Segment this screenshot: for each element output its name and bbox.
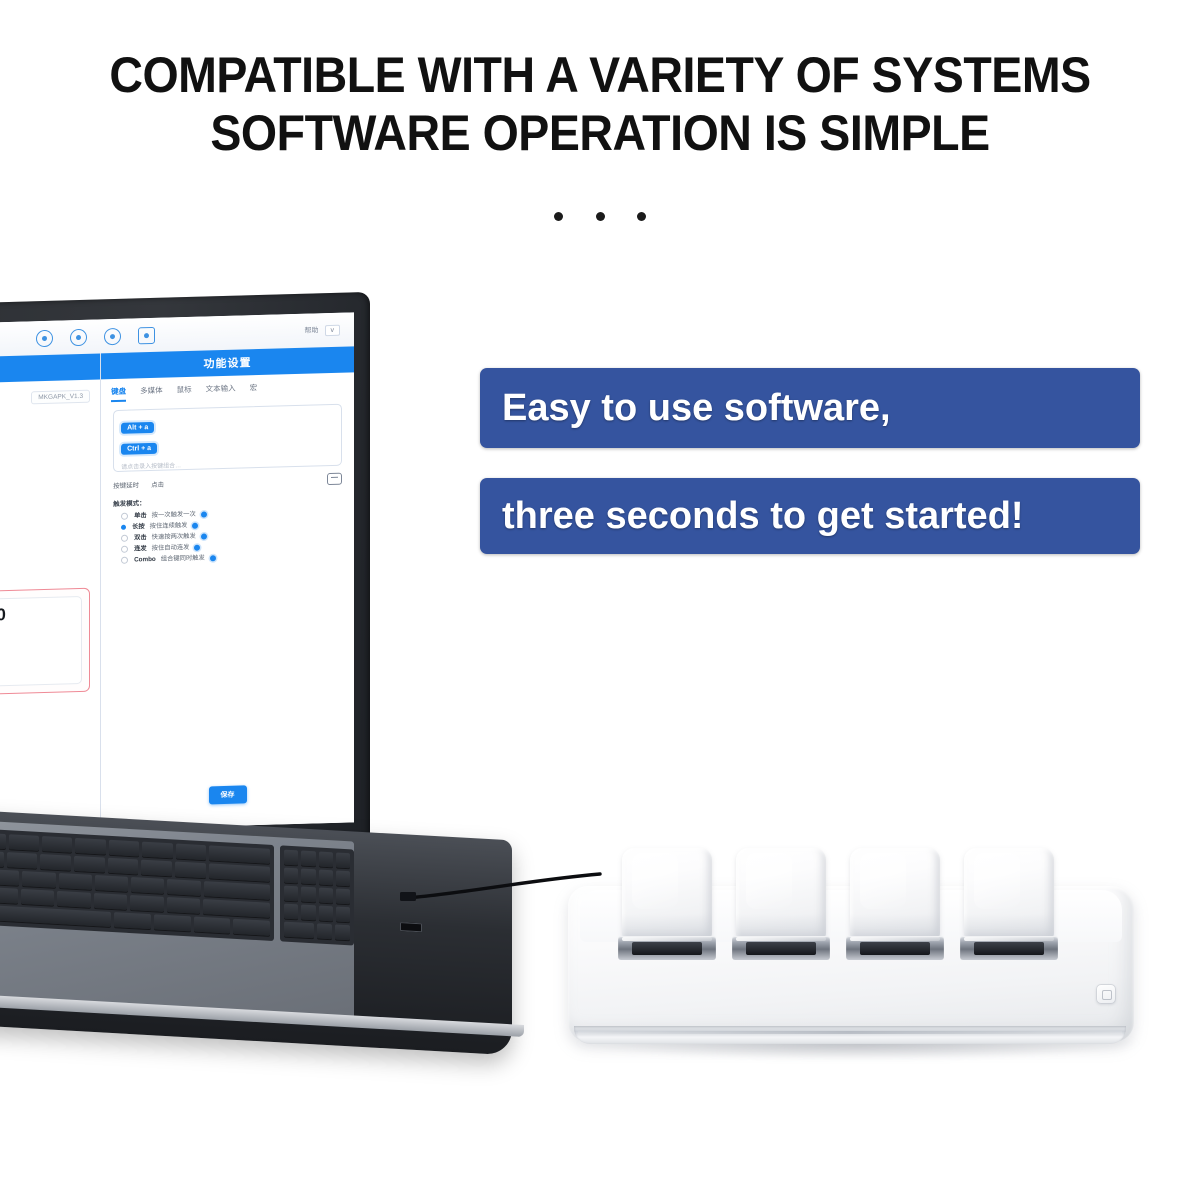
numpad-row xyxy=(284,886,350,905)
option-key: 长按 xyxy=(132,521,145,532)
keyboard-key xyxy=(0,869,19,886)
tab-macro[interactable]: 宏 xyxy=(250,382,258,398)
keyboard-key xyxy=(0,887,18,904)
keyboard-key xyxy=(141,860,172,877)
key-input-placeholder: 请点击录入按键组合… xyxy=(121,456,334,471)
headline-line-2: SOFTWARE OPERATION IS SIMPLE xyxy=(42,104,1158,162)
key-tag-alt[interactable]: Alt + a xyxy=(121,422,154,434)
keyboard-key xyxy=(21,889,54,906)
numpad-row xyxy=(284,850,350,869)
left-pane: 按键设置 MKGAPK_V1.3 0 类型组合 延时0 模式点击 xyxy=(0,353,101,837)
keyboard-key xyxy=(167,897,200,914)
laptop-front-edge xyxy=(0,984,524,1037)
tab-multimedia[interactable]: 多媒体 xyxy=(140,385,163,402)
keyboard-key xyxy=(108,858,139,875)
status-dot-icon xyxy=(210,555,216,561)
status-dot-icon xyxy=(201,533,207,539)
keycap xyxy=(850,848,940,940)
switch-body xyxy=(746,942,816,955)
laptop-screen: 帮助 v 按键设置 MKGAPK_V1.3 0 xyxy=(0,312,354,837)
row-spacer xyxy=(176,479,315,483)
separator-dot-1 xyxy=(554,212,563,221)
keyboard-key xyxy=(95,875,128,892)
option-key: Combo xyxy=(134,554,156,566)
keycap xyxy=(964,848,1054,940)
keyboard-key xyxy=(175,862,206,879)
keyboard-icon[interactable] xyxy=(327,473,342,485)
delay-value[interactable]: 点击 xyxy=(151,479,164,489)
keyboard-key xyxy=(7,852,38,869)
tab-text-input[interactable]: 文本输入 xyxy=(206,383,236,400)
laptop-keyboard xyxy=(0,819,274,941)
switch-body xyxy=(632,942,702,955)
product-marketing-image: COMPATIBLE WITH A VARIETY OF SYSTEMS SOF… xyxy=(0,0,1200,1200)
macropad-key-2[interactable] xyxy=(730,848,832,966)
keyboard-key xyxy=(130,895,163,912)
laptop-deck xyxy=(0,810,354,1021)
key-switch xyxy=(846,936,944,960)
status-dot-icon xyxy=(194,544,200,550)
keyboard-key xyxy=(59,873,92,890)
status-dot-icon xyxy=(192,522,198,528)
option-key: 单击 xyxy=(134,510,147,521)
tab-keyboard[interactable]: 键盘 xyxy=(111,386,126,402)
keyboard-key xyxy=(94,893,127,910)
sync-icon[interactable] xyxy=(138,326,155,343)
key-card[interactable]: 0 子键组合 子延时0 触发模式点击 xyxy=(0,596,82,689)
switch-glint xyxy=(736,937,826,941)
switch-body xyxy=(974,942,1044,955)
trigger-mode-list: 单击 按一次触发一次 长按 按住连续触发 xyxy=(121,505,342,566)
numpad-row xyxy=(284,922,350,941)
laptop-lid: 帮助 v 按键设置 MKGAPK_V1.3 0 xyxy=(0,292,370,868)
mode-button[interactable] xyxy=(1096,984,1116,1004)
keyboard-key xyxy=(142,842,172,859)
switch-glint xyxy=(964,937,1054,941)
delay-label: 按键延时 xyxy=(113,479,139,490)
radio-icon[interactable] xyxy=(121,513,128,520)
page-title: COMPATIBLE WITH A VARIETY OF SYSTEMS SOF… xyxy=(42,46,1158,162)
banner-text-1: Easy to use software, xyxy=(502,387,891,430)
configurator-app: 帮助 v 按键设置 MKGAPK_V1.3 0 xyxy=(0,312,354,837)
key-card-row: 触发模式点击 xyxy=(0,645,73,658)
keyboard-key xyxy=(9,834,39,851)
key-tag-ctrl[interactable]: Ctrl + a xyxy=(121,443,157,455)
keyboard-key xyxy=(42,836,72,853)
keyboard-key xyxy=(131,877,164,894)
numpad-row xyxy=(284,868,350,887)
radio-icon[interactable] xyxy=(121,535,128,542)
save-button[interactable]: 保存 xyxy=(209,785,247,804)
headline-line-1: COMPATIBLE WITH A VARIETY OF SYSTEMS xyxy=(109,47,1090,103)
macropad-key-4[interactable] xyxy=(958,848,1060,966)
toolbar-help-label[interactable]: 帮助 xyxy=(305,325,319,335)
macropad-key-3[interactable] xyxy=(844,848,946,966)
radio-icon[interactable] xyxy=(121,525,126,530)
right-pane: 功能设置 键盘 多媒体 鼠标 文本输入 宏 Alt + a Ctrl + a xyxy=(101,346,354,829)
switch-glint xyxy=(622,937,712,941)
macropad-base-strip xyxy=(574,1026,1126,1044)
keyboard-key xyxy=(233,919,270,936)
key-switch xyxy=(618,936,716,960)
firmware-version-chip: MKGAPK_V1.3 xyxy=(31,390,90,405)
laptop-illustration: 帮助 v 按键设置 MKGAPK_V1.3 0 xyxy=(0,300,550,1100)
option-key: 连发 xyxy=(134,543,147,554)
option-key: 双击 xyxy=(134,532,147,543)
toolbar-right: 帮助 v xyxy=(305,324,341,336)
keyboard-key xyxy=(114,912,151,929)
keyboard-key xyxy=(209,845,270,863)
dot-separator xyxy=(0,208,1200,226)
key-config-group: 0 类型组合 延时0 模式点击 0 xyxy=(0,588,90,702)
switch-body xyxy=(860,942,930,955)
keyboard-key xyxy=(57,891,90,908)
keyboard-key xyxy=(203,899,270,918)
status-dot-icon xyxy=(201,511,207,517)
banner-easy-to-use: Easy to use software, xyxy=(480,368,1140,448)
keyboard-key xyxy=(167,879,200,896)
usb-port xyxy=(400,922,422,932)
keyboard-key xyxy=(0,850,4,867)
macropad-device xyxy=(560,830,1160,1070)
radio-icon[interactable] xyxy=(121,557,128,564)
keycap xyxy=(622,848,712,940)
laptop-base xyxy=(0,800,512,1056)
refresh-icon[interactable] xyxy=(36,329,53,346)
laptop-numpad xyxy=(280,845,354,945)
key-card-rows: 子键组合 子延时0 触发模式点击 xyxy=(0,627,73,658)
tab-mouse[interactable]: 鼠标 xyxy=(177,384,192,400)
radio-icon[interactable] xyxy=(121,546,128,553)
left-pane-title: 按键设置 xyxy=(0,353,100,387)
keyboard-key xyxy=(74,856,105,873)
keyboard-key xyxy=(176,844,206,861)
numpad-row xyxy=(284,904,350,923)
keyboard-key xyxy=(204,881,270,900)
keyboard-key xyxy=(209,863,270,881)
keyboard-key xyxy=(75,838,105,855)
key-card-value: 0 xyxy=(0,603,73,627)
keyboard-key xyxy=(194,917,231,934)
option-desc: 组合键同时触发 xyxy=(161,553,205,565)
keyboard-key xyxy=(0,832,6,849)
app-panes: 按键设置 MKGAPK_V1.3 0 类型组合 延时0 模式点击 xyxy=(0,346,354,837)
toolbar-chip[interactable]: v xyxy=(325,324,341,335)
settings-icon[interactable] xyxy=(104,327,121,344)
toolbar-icon-group xyxy=(36,326,155,346)
delay-option-row: 按键延时 点击 xyxy=(113,473,342,491)
switch-glint xyxy=(850,937,940,941)
key-combo-input[interactable]: Alt + a Ctrl + a 请点击录入按键组合… xyxy=(113,404,342,472)
keyboard-key xyxy=(154,914,191,931)
macropad-key-1[interactable] xyxy=(616,848,718,966)
key-switch xyxy=(732,936,830,960)
option-desc: 按一次触发一次 xyxy=(152,509,196,521)
info-icon[interactable] xyxy=(70,328,87,345)
keyboard-key xyxy=(40,854,71,871)
keycap xyxy=(736,848,826,940)
banner-text-2: three seconds to get started! xyxy=(502,495,1024,538)
separator-dot-2 xyxy=(596,212,605,221)
keyboard-key xyxy=(109,840,139,857)
key-switch xyxy=(960,936,1058,960)
separator-dot-3 xyxy=(637,212,646,221)
keyboard-key xyxy=(22,871,55,888)
banner-three-seconds: three seconds to get started! xyxy=(480,478,1140,554)
